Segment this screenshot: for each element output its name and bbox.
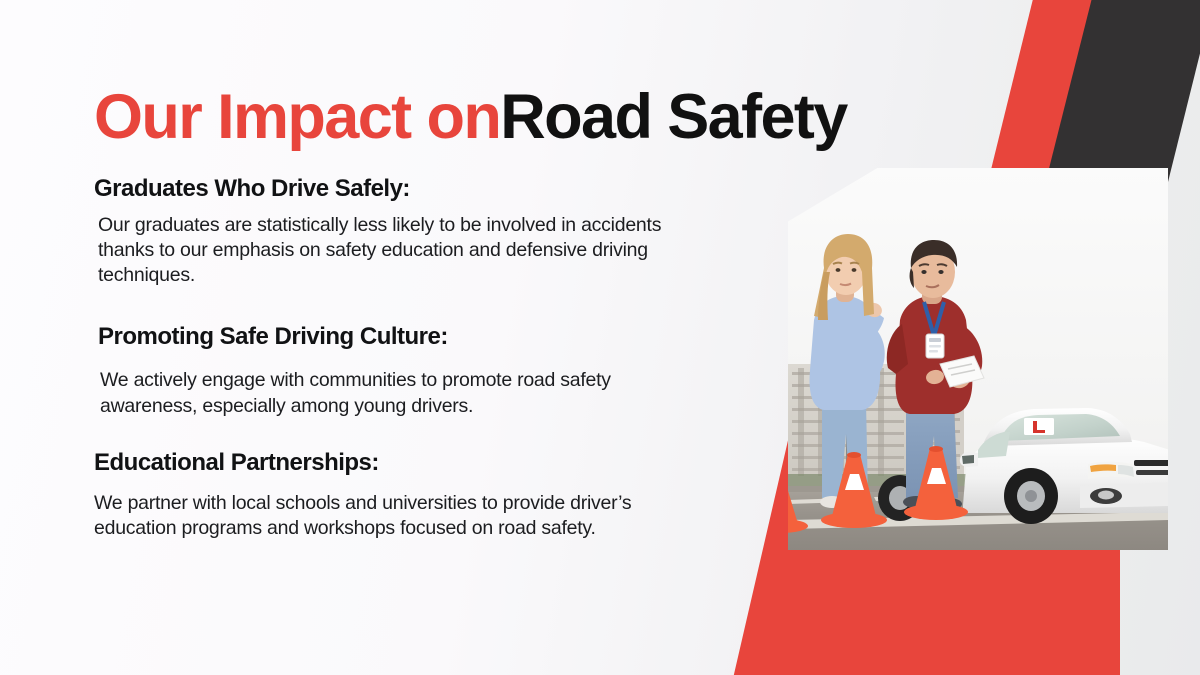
section-heading: Graduates Who Drive Safely: <box>94 175 694 203</box>
slide-canvas: Our Impact onRoad Safety Graduates Who D… <box>0 0 1200 675</box>
page-title: Our Impact onRoad Safety <box>94 86 694 149</box>
section-body: We partner with local schools and univer… <box>94 491 669 542</box>
section-graduates-who-drive-safely: Graduates Who Drive Safely: Our graduate… <box>94 175 694 289</box>
section-body: We actively engage with communities to p… <box>94 368 669 419</box>
photo-illustration <box>788 168 1168 550</box>
photo-image <box>788 168 1168 550</box>
section-educational-partnerships: Educational Partnerships: We partner wit… <box>94 449 694 541</box>
section-promoting-safe-driving-culture: Promoting Safe Driving Culture: We activ… <box>94 323 694 419</box>
slide-content: Our Impact onRoad Safety Graduates Who D… <box>94 86 694 547</box>
l-plate-sticker <box>1024 418 1054 435</box>
section-heading: Promoting Safe Driving Culture: <box>94 323 694 351</box>
page-title-accent: Our Impact on <box>94 82 500 152</box>
section-body: Our graduates are statistically less lik… <box>94 213 669 289</box>
driving-lesson-photo <box>788 168 1168 550</box>
page-title-main: Road Safety <box>500 82 847 152</box>
section-heading: Educational Partnerships: <box>94 449 694 477</box>
